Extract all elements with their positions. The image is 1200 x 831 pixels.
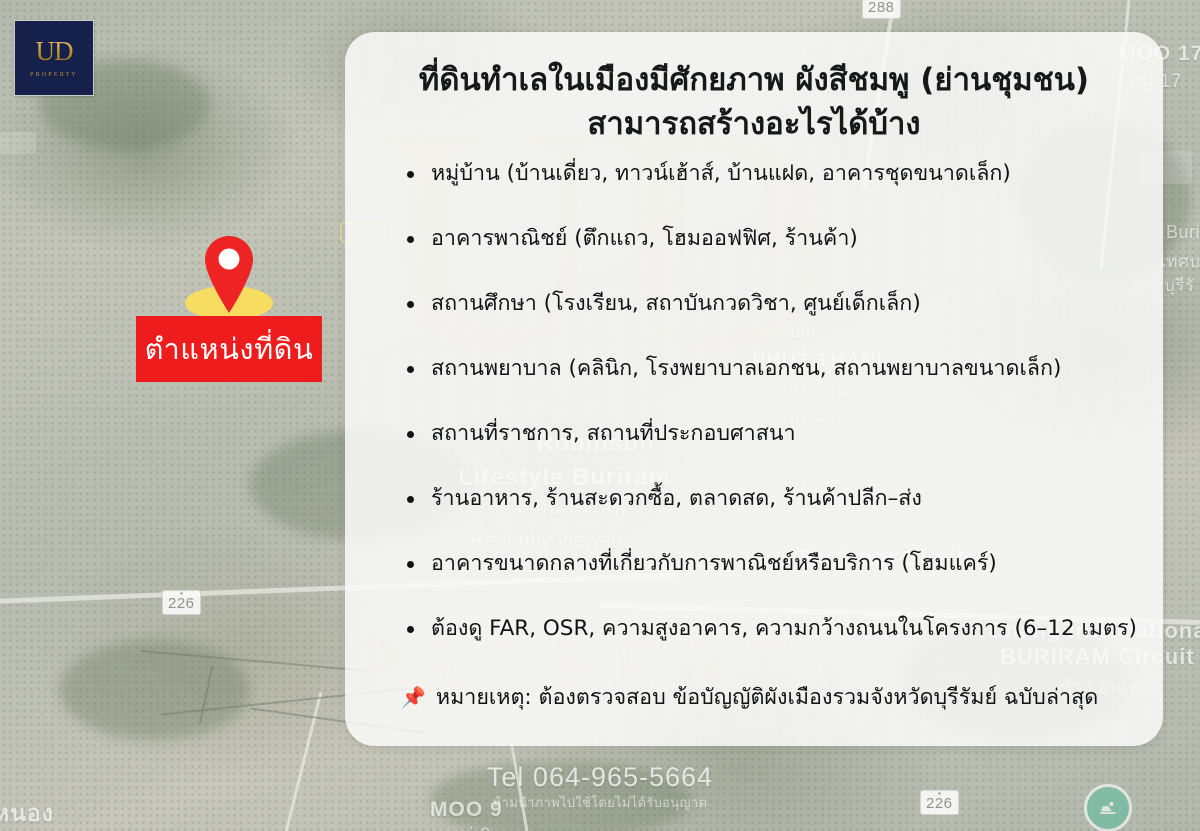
- pushpin-icon: 📌: [401, 687, 426, 707]
- road-shield-288: 288: [862, 0, 901, 19]
- page-title: ที่ดินทำเลในเมืองมีศักยภาพ ผังสีชมพู (ย่…: [379, 58, 1129, 146]
- page-title-line1: ที่ดินทำเลในเมืองมีศักยภาพ ผังสีชมพู (ย่…: [419, 62, 1089, 98]
- ud-property-logo[interactable]: UD PROPERTY: [14, 20, 94, 96]
- land-position-label: ตำแหน่งที่ดิน: [136, 316, 322, 382]
- page-title-line2: สามารถสร้างอะไรได้บ้าง: [587, 106, 920, 142]
- contact-phone[interactable]: Tel 064-965-5664: [0, 762, 1200, 793]
- list-item: อาคารขนาดกลางที่เกี่ยวกับการพาณิชย์หรือบ…: [401, 550, 1129, 578]
- road-shield-226-left: 226: [162, 590, 201, 615]
- list-item: สถานพยาบาล (คลินิก, โรงพยาบาลเอกชน, สถาน…: [401, 355, 1129, 383]
- logo-mark: UD: [36, 38, 73, 65]
- map-label-buriram-thai: บุรีรั: [1164, 272, 1195, 299]
- list-item: หมู่บ้าน (บ้านเดี่ยว, ทาวน์เฮ้าส์, บ้านแ…: [401, 160, 1129, 188]
- road-shield-number: 226: [168, 595, 195, 612]
- road-shield-number: 288: [868, 0, 895, 16]
- map-label-buri: Buri: [1166, 222, 1200, 243]
- allowed-uses-list: หมู่บ้าน (บ้านเดี่ยว, ทาวน์เฮ้าส์, บ้านแ…: [379, 160, 1129, 643]
- info-card: ที่ดินทำเลในเมืองมีศักยภาพ ผังสีชมพู (ย่…: [345, 32, 1163, 746]
- footnote: 📌 หมายเหตุ: ต้องตรวจสอบ ข้อบัญญัติผังเมื…: [379, 680, 1129, 714]
- map-label-moo9-thai: หมู่ 9: [448, 820, 491, 831]
- map-vegetation: [60, 640, 250, 740]
- logo-subtitle: PROPERTY: [30, 72, 78, 78]
- list-item: ร้านอาหาร, ร้านสะดวกซื้อ, ตลาดสด, ร้านค้…: [401, 485, 1129, 513]
- footnote-text: หมายเหตุ: ต้องตรวจสอบ ข้อบัญญัติผังเมือง…: [436, 680, 1098, 714]
- map-patch: [0, 132, 36, 154]
- map-label-thetsaban: เทศบ: [1160, 248, 1200, 275]
- map-pin-icon: [199, 234, 259, 321]
- list-item: สถานศึกษา (โรงเรียน, สถาบันกวดวิชา, ศูนย…: [401, 290, 1129, 318]
- list-item: สถานที่ราชการ, สถานที่ประกอบศาสนา: [401, 420, 1129, 448]
- list-item: ต้องดู FAR, OSR, ความสูงอาคาร, ความกว้าง…: [401, 615, 1129, 643]
- screenshot-stage: 288 226 226 3021 2445 MOO 17 หมู่ 17 MOO…: [0, 0, 1200, 831]
- list-item: อาคารพาณิชย์ (ตึกแถว, โฮมออฟฟิศ, ร้านค้า…: [401, 225, 1129, 253]
- usage-disclaimer: ห้ามนำภาพไปใช้โดยไม่ได้รับอนุญาต: [0, 792, 1200, 813]
